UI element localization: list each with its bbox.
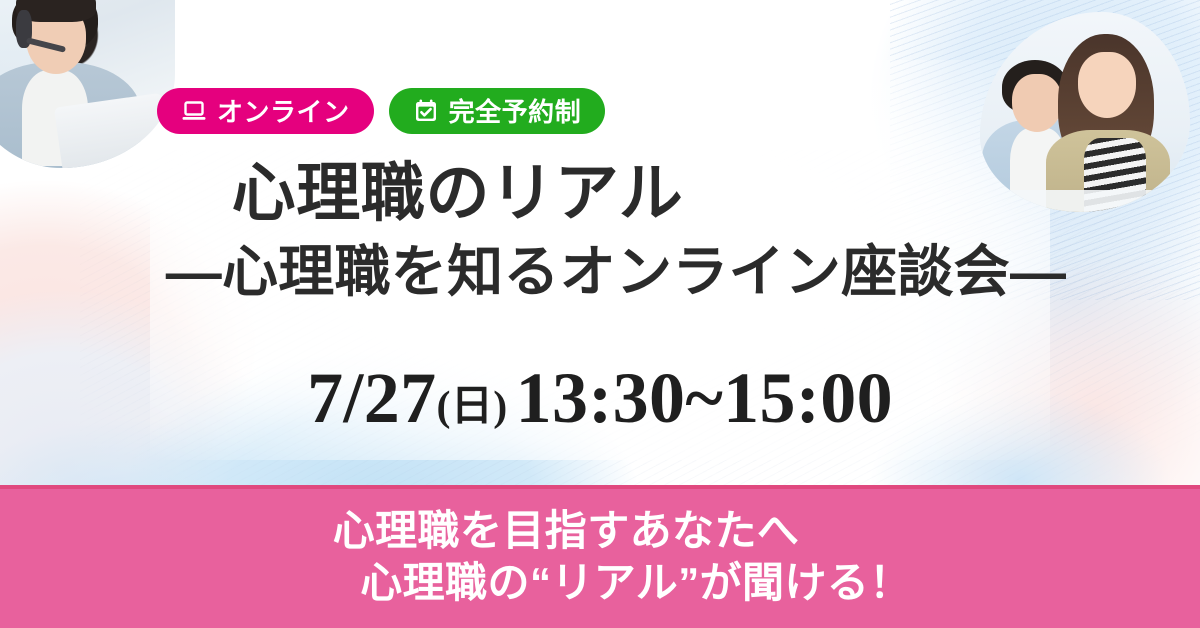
laptop-icon xyxy=(181,98,207,124)
headline-block: 心理職のリアル ―心理職を知るオンライン座談会― xyxy=(0,160,1200,304)
footer-line-2: 心理職の“リアル”が聞ける！ xyxy=(36,557,1200,608)
seminar-banner: オンライン 完全予約制 心理職のリアル ―心理職を知るオンライン座談会― 7/2… xyxy=(0,0,1200,628)
badge-online-label: オンライン xyxy=(217,99,350,125)
photo-right-man-face xyxy=(1012,74,1062,132)
event-date: 7/27 xyxy=(307,358,436,438)
event-time: 13:30~15:00 xyxy=(516,358,893,438)
badge-group: オンライン 完全予約制 xyxy=(157,88,605,134)
photo-right-woman-face xyxy=(1078,52,1136,118)
badge-online: オンライン xyxy=(157,88,374,134)
event-datetime: 7/27(日)13:30~15:00 xyxy=(0,362,1200,434)
badge-reservation-label: 完全予約制 xyxy=(449,99,582,125)
footer-text-block: 心理職を目指すあなたへ 心理職の“リアル”が聞ける！ xyxy=(0,485,1200,628)
calendar-check-icon xyxy=(413,98,439,124)
footer-band: 心理職を目指すあなたへ 心理職の“リアル”が聞ける！ xyxy=(0,485,1200,628)
page-title: 心理職のリアル xyxy=(0,160,1200,227)
event-day-of-week: (日) xyxy=(437,384,508,430)
photo-left-counselor xyxy=(0,0,175,168)
page-subtitle: ―心理職を知るオンライン座談会― xyxy=(32,241,1200,304)
badge-reservation: 完全予約制 xyxy=(389,88,606,134)
footer-line-1: 心理職を目指すあなたへ xyxy=(0,505,1166,556)
